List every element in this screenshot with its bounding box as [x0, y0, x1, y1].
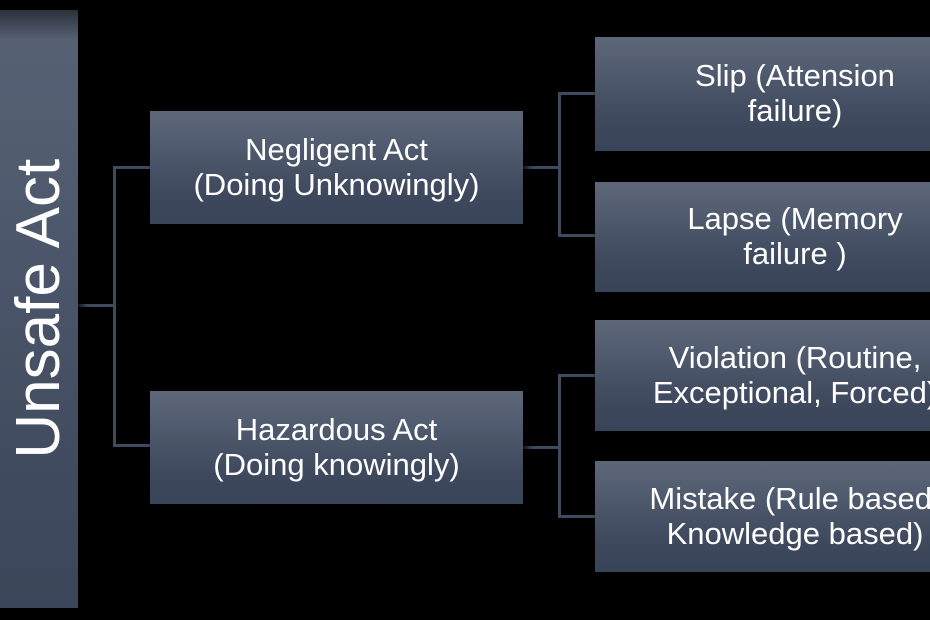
connector-root-to-hazardous [113, 444, 151, 447]
connector-hazardous-spine [558, 374, 561, 518]
connector-negligent-stub [522, 166, 560, 169]
connector-hazardous-to-violation [558, 374, 596, 377]
node-negligent-act: Negligent Act (Doing Unknowingly) [150, 111, 523, 224]
node-violation: Violation (Routine, Exceptional, Forced) [595, 320, 930, 431]
node-unsafe-act: Unsafe Act [0, 10, 78, 608]
connector-root-stub [78, 304, 115, 307]
connector-root-to-negligent [113, 166, 151, 169]
connector-root-spine [113, 166, 116, 447]
diagram-canvas: Unsafe Act Negligent Act (Doing Unknowin… [0, 0, 930, 620]
node-slip: Slip (Attension failure) [595, 37, 930, 151]
connector-hazardous-to-mistake [558, 515, 596, 518]
node-hazardous-act: Hazardous Act (Doing knowingly) [150, 391, 523, 504]
node-unsafe-act-label: Unsafe Act [4, 159, 73, 459]
connector-negligent-to-slip [558, 92, 596, 95]
connector-hazardous-stub [522, 446, 560, 449]
connector-negligent-spine [558, 92, 561, 237]
connector-negligent-to-lapse [558, 234, 596, 237]
node-mistake: Mistake (Rule based, Knowledge based) [595, 461, 930, 572]
node-lapse: Lapse (Memory failure ) [595, 182, 930, 292]
